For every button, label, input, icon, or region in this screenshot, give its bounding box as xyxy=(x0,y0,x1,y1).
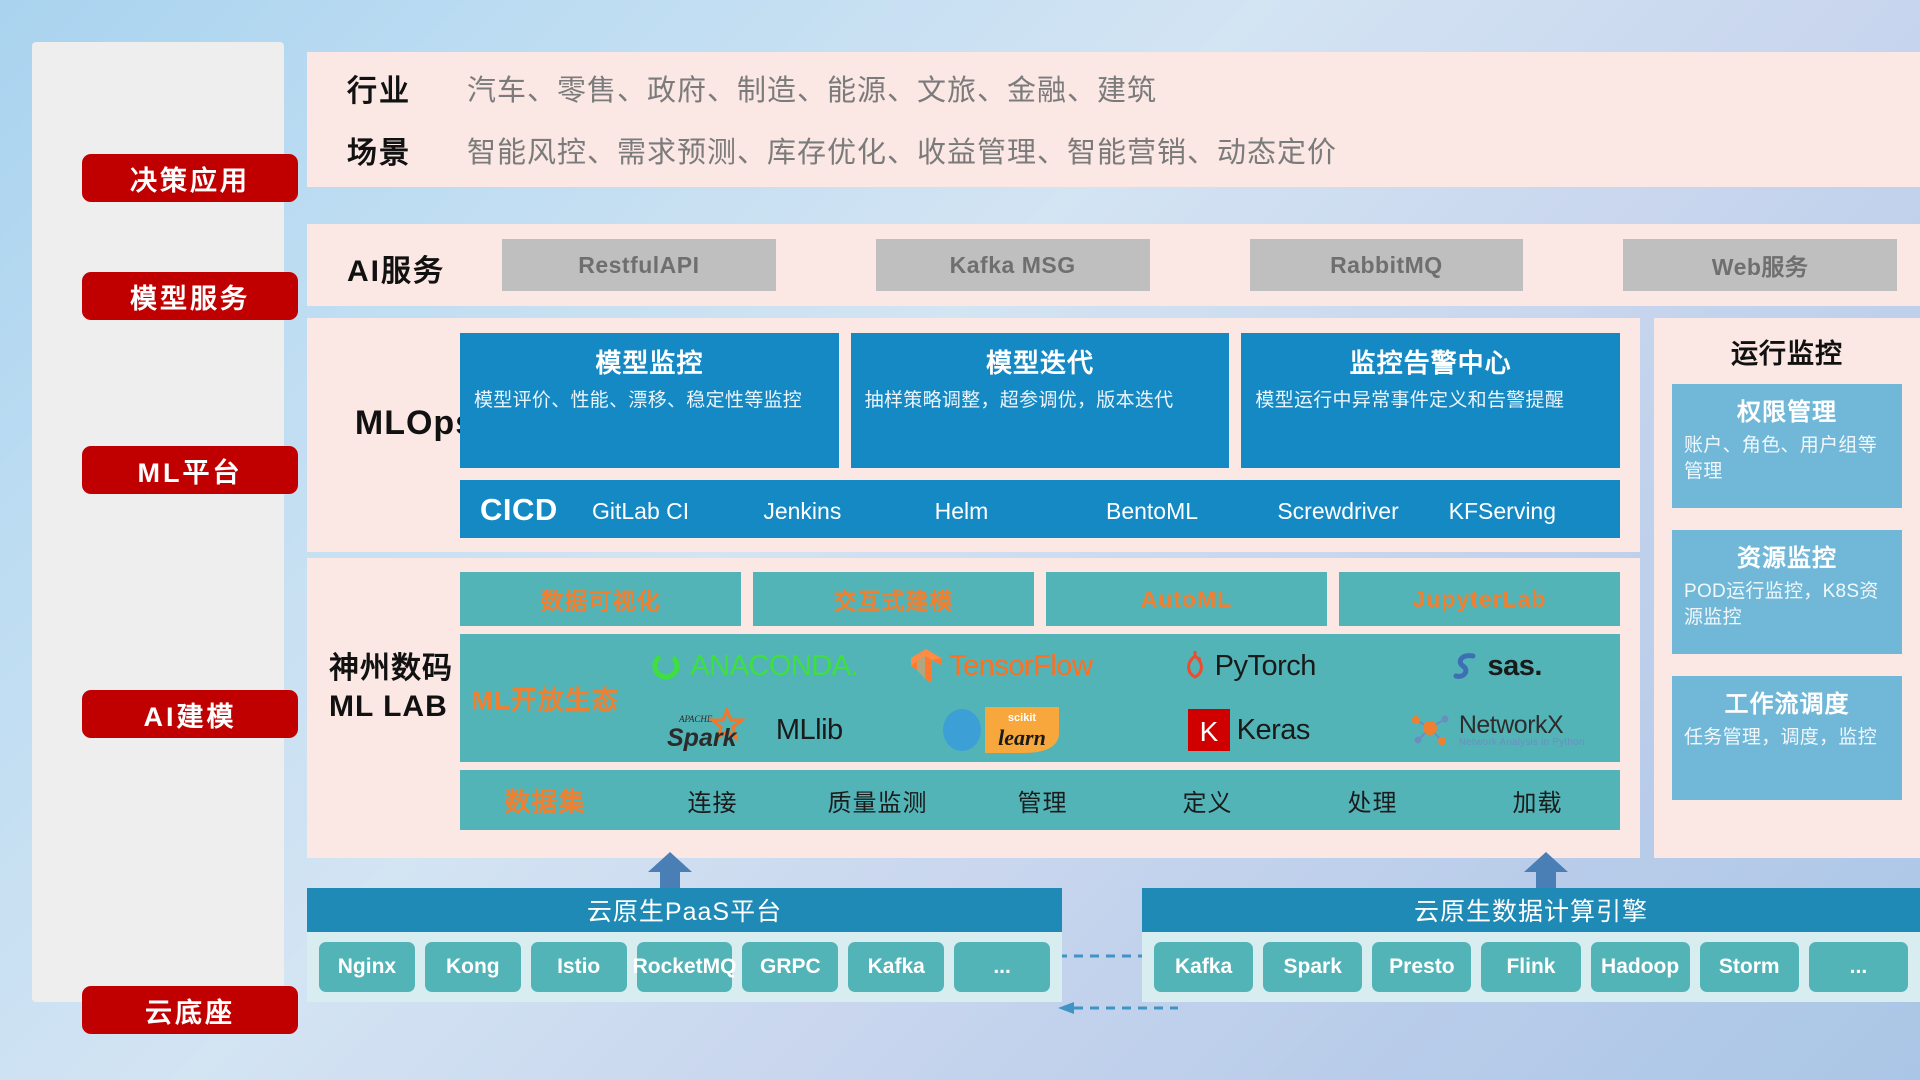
dataset-title: 数据集 xyxy=(460,782,630,819)
pytorch-mark-icon xyxy=(1182,650,1208,682)
rail-label: 决策应用 xyxy=(130,159,250,198)
ai-service-chip-list: RestfulAPI Kafka MSG RabbitMQ Web服务 xyxy=(502,239,1897,291)
ml-ecosystem-title: ML开放生态 xyxy=(460,680,630,717)
paas-chip[interactable]: GRPC xyxy=(742,942,838,992)
ml-lab-feature[interactable]: 交互式建模 xyxy=(753,572,1034,626)
diagram-canvas: 决策应用 模型服务 ML平台 AI建模 云底座 行业 汽车、零售、政府、制造、能… xyxy=(0,0,1920,1080)
scenario-label: 场景 xyxy=(347,128,467,172)
paas-title: 云原生PaaS平台 xyxy=(307,888,1062,932)
ml-ecosystem-logo-grid: ANACONDA. TensorFlow PyTorch xyxy=(630,634,1620,762)
networkx-logo: NetworkX Network Analysis in Python xyxy=(1408,710,1585,750)
ml-lab-feature[interactable]: 数据可视化 xyxy=(460,572,741,626)
run-monitor-panel: 运行监控 权限管理 账户、角色、用户组等管理 资源监控 POD运行监控，K8S资… xyxy=(1654,318,1920,858)
data-engine-block: 云原生数据计算引擎 Kafka Spark Presto Flink Hadoo… xyxy=(1142,888,1920,1002)
run-monitor-card-title: 工作流调度 xyxy=(1684,684,1890,719)
run-monitor-card-desc: 任务管理，调度，监控 xyxy=(1684,725,1890,751)
data-engine-chip-list: Kafka Spark Presto Flink Hadoop Storm ..… xyxy=(1142,932,1920,1002)
dataset-item[interactable]: 定义 xyxy=(1125,783,1290,818)
scenario-values: 智能风控、需求预测、库存优化、收益管理、智能营销、动态定价 xyxy=(467,129,1337,171)
mlops-card-title: 模型迭代 xyxy=(865,343,1216,380)
networkx-logo-text: NetworkX xyxy=(1459,713,1585,738)
dashed-arrow-left-icon xyxy=(1058,1002,1178,1014)
spark-mllib-logo-text: MLlib xyxy=(776,714,843,747)
rail-item-model-service[interactable]: 模型服务 xyxy=(82,272,298,320)
cicd-item[interactable]: Jenkins xyxy=(763,480,934,526)
run-monitor-title: 运行监控 xyxy=(1654,332,1920,371)
sas-mark-icon xyxy=(1451,650,1481,682)
ml-ecosystem-row: ML开放生态 ANACONDA. TensorFlow xyxy=(460,634,1620,762)
paas-chip[interactable]: ... xyxy=(954,942,1050,992)
paas-chip[interactable]: Nginx xyxy=(319,942,415,992)
pytorch-logo: PyTorch xyxy=(1182,650,1316,683)
dataset-item[interactable]: 加载 xyxy=(1455,783,1620,818)
cicd-title: CICD xyxy=(460,480,592,528)
svg-text:scikit: scikit xyxy=(1008,712,1036,724)
dataset-item[interactable]: 管理 xyxy=(960,783,1125,818)
model-service-panel: AI服务 RestfulAPI Kafka MSG RabbitMQ Web服务 xyxy=(307,224,1920,306)
paas-block: 云原生PaaS平台 Nginx Kong Istio RocketMQ GRPC… xyxy=(307,888,1062,1002)
scenario-row: 场景 智能风控、需求预测、库存优化、收益管理、智能营销、动态定价 xyxy=(347,128,1337,172)
dataset-row: 数据集 连接 质量监测 管理 定义 处理 加载 xyxy=(460,770,1620,830)
anaconda-mark-icon xyxy=(649,649,683,683)
run-monitor-card[interactable]: 工作流调度 任务管理，调度，监控 xyxy=(1672,676,1902,800)
run-monitor-card[interactable]: 权限管理 账户、角色、用户组等管理 xyxy=(1672,384,1902,508)
rail-item-cloud-base[interactable]: 云底座 xyxy=(82,986,298,1034)
mlops-card-desc: 模型评价、性能、漂移、稳定性等监控 xyxy=(474,388,825,414)
networkx-wordmark: NetworkX Network Analysis in Python xyxy=(1459,713,1585,748)
sas-logo-text: sas. xyxy=(1488,650,1542,683)
scikit-learn-mark-icon: scikit learn xyxy=(981,707,1063,753)
data-engine-chip[interactable]: Presto xyxy=(1372,942,1471,992)
mlops-card[interactable]: 模型迭代 抽样策略调整，超参调优，版本迭代 xyxy=(851,333,1230,468)
industry-label: 行业 xyxy=(347,66,467,110)
mlops-card-title: 监控告警中心 xyxy=(1255,343,1606,380)
data-engine-chip[interactable]: Hadoop xyxy=(1591,942,1690,992)
dataset-item[interactable]: 处理 xyxy=(1290,783,1455,818)
run-monitor-card-desc: 账户、角色、用户组等管理 xyxy=(1684,433,1890,484)
ai-service-chip[interactable]: RabbitMQ xyxy=(1250,239,1524,291)
mlops-card-desc: 抽样策略调整，超参调优，版本迭代 xyxy=(865,388,1216,414)
run-monitor-card-title: 权限管理 xyxy=(1684,392,1890,427)
ai-service-chip[interactable]: Kafka MSG xyxy=(876,239,1150,291)
cicd-item[interactable]: KFServing xyxy=(1449,480,1620,526)
cicd-item[interactable]: GitLab CI xyxy=(592,480,763,526)
tensorflow-mark-icon xyxy=(910,648,942,684)
svg-text:Spark: Spark xyxy=(667,724,738,752)
rail-item-ai-modeling[interactable]: AI建模 xyxy=(82,690,298,738)
keras-mark-icon: K xyxy=(1188,709,1230,751)
data-engine-chip[interactable]: Flink xyxy=(1481,942,1580,992)
decision-app-panel: 行业 汽车、零售、政府、制造、能源、文旅、金融、建筑 场景 智能风控、需求预测、… xyxy=(307,52,1920,187)
anaconda-logo-text: ANACONDA. xyxy=(690,650,858,683)
cicd-item[interactable]: Helm xyxy=(935,480,1106,526)
anaconda-logo: ANACONDA. xyxy=(649,649,858,683)
data-engine-chip[interactable]: Kafka xyxy=(1154,942,1253,992)
spark-mark-icon: APACHE Spark xyxy=(665,708,769,752)
networkx-mark-icon xyxy=(1408,710,1452,750)
cicd-item[interactable]: BentoML xyxy=(1106,480,1277,526)
ml-lab-feature[interactable]: JupyterLab xyxy=(1339,572,1620,626)
ai-service-chip[interactable]: RestfulAPI xyxy=(502,239,776,291)
dataset-item[interactable]: 连接 xyxy=(630,783,795,818)
paas-chip-list: Nginx Kong Istio RocketMQ GRPC Kafka ... xyxy=(307,932,1062,1002)
ml-lab-feature[interactable]: AutoML xyxy=(1046,572,1327,626)
spark-mllib-logo: APACHE Spark MLlib xyxy=(665,708,843,752)
mlops-card[interactable]: 监控告警中心 模型运行中异常事件定义和告警提醒 xyxy=(1241,333,1620,468)
mlops-card-title: 模型监控 xyxy=(474,343,825,380)
industry-row: 行业 汽车、零售、政府、制造、能源、文旅、金融、建筑 xyxy=(347,66,1157,110)
layer-rail: 决策应用 模型服务 ML平台 AI建模 云底座 xyxy=(32,42,284,1002)
run-monitor-card-desc: POD运行监控，K8S资源监控 xyxy=(1684,579,1890,630)
keras-logo: K Keras xyxy=(1188,709,1310,751)
industry-values: 汽车、零售、政府、制造、能源、文旅、金融、建筑 xyxy=(467,67,1157,109)
run-monitor-card-title: 资源监控 xyxy=(1684,538,1890,573)
data-engine-chip[interactable]: Storm xyxy=(1700,942,1799,992)
tensorflow-logo: TensorFlow xyxy=(910,648,1092,684)
run-monitor-card[interactable]: 资源监控 POD运行监控，K8S资源监控 xyxy=(1672,530,1902,654)
mlops-card-list: 模型监控 模型评价、性能、漂移、稳定性等监控 模型迭代 抽样策略调整，超参调优，… xyxy=(460,333,1620,468)
rail-label: AI建模 xyxy=(144,695,237,734)
ai-service-label: AI服务 xyxy=(347,246,497,290)
tensorflow-logo-text: TensorFlow xyxy=(949,650,1092,683)
scikit-learn-logo: scikit learn xyxy=(940,707,1063,753)
svg-text:learn: learn xyxy=(998,725,1046,750)
rail-label: ML平台 xyxy=(138,451,243,490)
mlops-card[interactable]: 模型监控 模型评价、性能、漂移、稳定性等监控 xyxy=(460,333,839,468)
rail-label: 云底座 xyxy=(145,991,235,1030)
data-engine-title: 云原生数据计算引擎 xyxy=(1142,888,1920,932)
paas-chip[interactable]: RocketMQ xyxy=(637,942,733,992)
data-engine-chip[interactable]: ... xyxy=(1809,942,1908,992)
ai-service-chip[interactable]: Web服务 xyxy=(1623,239,1897,291)
data-engine-chip[interactable]: Spark xyxy=(1263,942,1362,992)
paas-chip[interactable]: Istio xyxy=(531,942,627,992)
mlops-panel: MLOps 模型监控 模型评价、性能、漂移、稳定性等监控 模型迭代 抽样策略调整… xyxy=(307,318,1640,552)
ml-lab-panel: 神州数码 ML LAB 数据可视化 交互式建模 AutoML JupyterLa… xyxy=(307,558,1640,858)
mlops-card-desc: 模型运行中异常事件定义和告警提醒 xyxy=(1255,388,1606,414)
rail-item-ml-platform[interactable]: ML平台 xyxy=(82,446,298,494)
paas-chip[interactable]: Kafka xyxy=(848,942,944,992)
rail-item-decision-app[interactable]: 决策应用 xyxy=(82,154,298,202)
paas-chip[interactable]: Kong xyxy=(425,942,521,992)
ml-lab-feature-list: 数据可视化 交互式建模 AutoML JupyterLab xyxy=(460,572,1620,626)
rail-label: 模型服务 xyxy=(130,277,250,316)
svg-text:APACHE: APACHE xyxy=(678,714,713,724)
dataset-item[interactable]: 质量监测 xyxy=(795,783,960,818)
cicd-item[interactable]: Screwdriver xyxy=(1277,480,1448,526)
svg-text:K: K xyxy=(1199,716,1218,747)
cicd-bar: CICD GitLab CI Jenkins Helm BentoML Scre… xyxy=(460,480,1620,538)
sas-logo: sas. xyxy=(1451,650,1542,683)
pytorch-logo-text: PyTorch xyxy=(1215,650,1316,683)
networkx-tagline: Network Analysis in Python xyxy=(1459,738,1585,748)
keras-logo-text: Keras xyxy=(1237,714,1310,747)
